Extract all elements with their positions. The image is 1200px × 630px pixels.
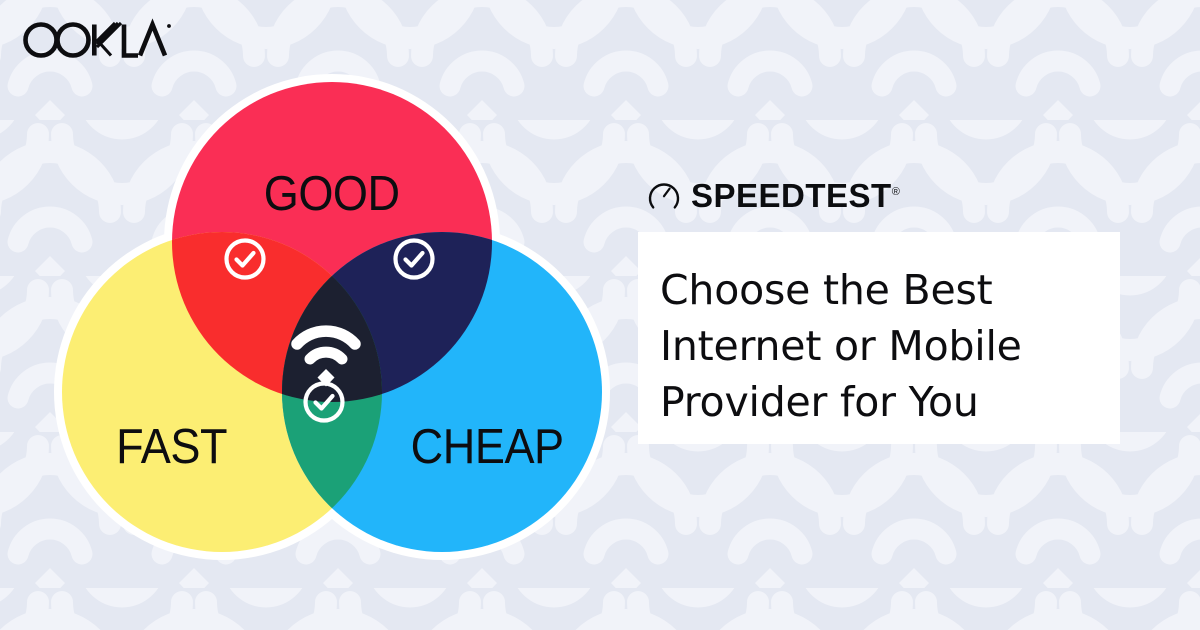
ookla-logo[interactable] [14, 14, 174, 66]
speedtest-registered-mark: ® [892, 186, 900, 198]
ookla-registered-mark [167, 24, 171, 28]
right-content-column: SPEEDTEST® Choose the Best Internet or M… [638, 172, 1120, 444]
venn-label-good: GOOD [264, 165, 400, 220]
venn-label-cheap: CHEAP [411, 418, 564, 473]
speedtest-wordmark: SPEEDTEST® [691, 179, 900, 212]
headline-line-3: Provider for You [660, 374, 1120, 430]
headline-line-2: Internet or Mobile [660, 318, 1120, 374]
speedtest-logo[interactable]: SPEEDTEST® [638, 172, 1120, 218]
venn-label-fast: FAST [116, 418, 227, 473]
speedtest-wordmark-text: SPEEDTEST [691, 177, 892, 214]
speedometer-gauge-icon [648, 179, 680, 211]
headline-card: Choose the Best Internet or Mobile Provi… [638, 232, 1120, 444]
venn-diagram: GOOD FAST CHEAP [52, 62, 612, 572]
headline-line-1: Choose the Best [660, 262, 1120, 318]
page-title: Choose the Best Internet or Mobile Provi… [660, 262, 1120, 430]
